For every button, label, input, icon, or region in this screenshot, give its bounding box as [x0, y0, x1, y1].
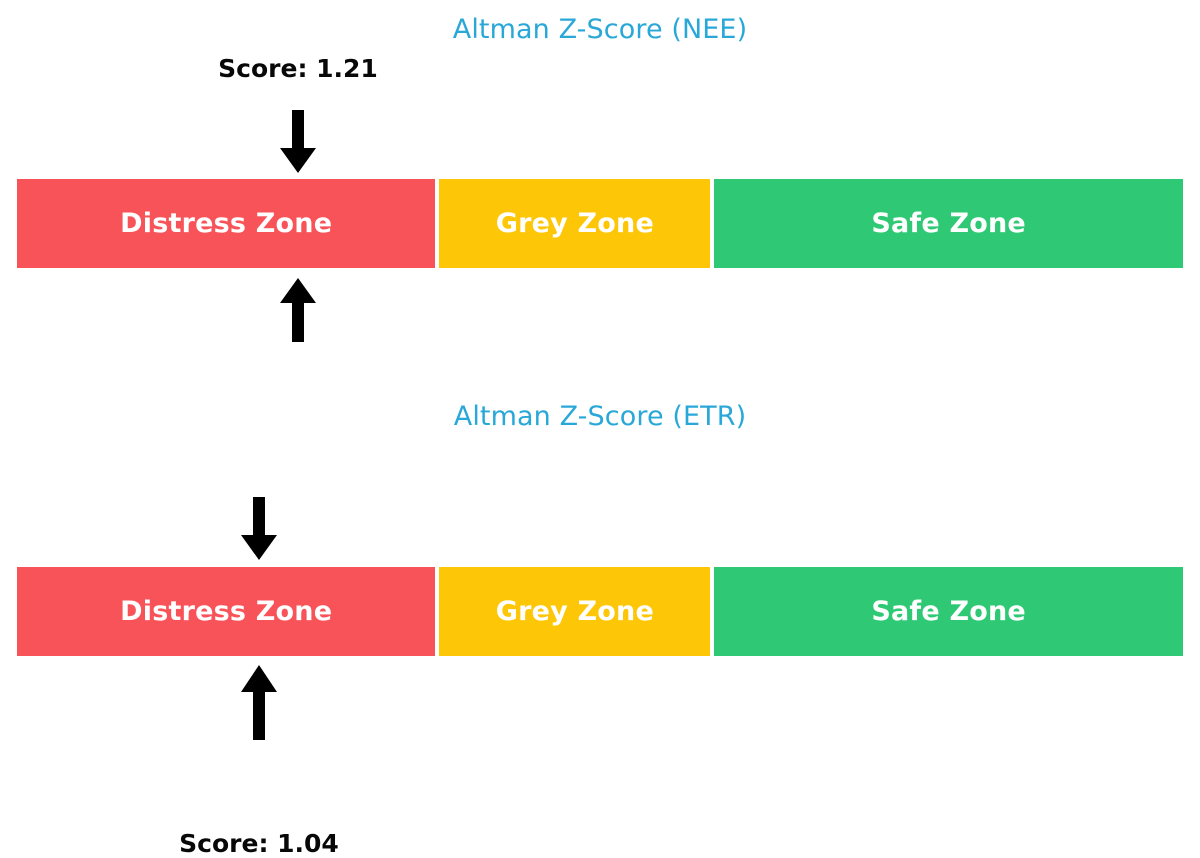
zscore-panel-etr: Altman Z-Score (ETR) Score: 1.04 Distres…: [0, 387, 1200, 774]
score-label-etr: Score: 1.04: [179, 829, 339, 858]
score-marker-down-arrow-nee: [277, 110, 319, 173]
zone-grey-nee[interactable]: Grey Zone: [437, 177, 712, 270]
zone-bar-nee: Distress Zone Grey Zone Safe Zone: [15, 177, 1185, 270]
zone-distress-nee[interactable]: Distress Zone: [15, 177, 437, 270]
zone-label-distress-etr: Distress Zone: [120, 596, 332, 627]
score-marker-up-arrow-etr: [238, 665, 280, 740]
zone-label-distress-nee: Distress Zone: [120, 208, 332, 239]
score-marker-down-arrow-etr: [238, 497, 280, 560]
zone-label-grey-nee: Grey Zone: [496, 208, 654, 239]
zone-label-grey-etr: Grey Zone: [496, 596, 654, 627]
zone-label-safe-etr: Safe Zone: [871, 596, 1026, 627]
zone-grey-etr[interactable]: Grey Zone: [437, 565, 712, 658]
zone-safe-etr[interactable]: Safe Zone: [712, 565, 1185, 658]
zone-distress-etr[interactable]: Distress Zone: [15, 565, 437, 658]
zone-label-safe-nee: Safe Zone: [871, 208, 1026, 239]
score-label-nee: Score: 1.21: [218, 54, 378, 83]
zscore-panel-nee: Altman Z-Score (NEE) Score: 1.21 Distres…: [0, 0, 1200, 387]
zone-bar-etr: Distress Zone Grey Zone Safe Zone: [15, 565, 1185, 658]
page-title-etr: Altman Z-Score (ETR): [0, 401, 1200, 432]
score-marker-up-arrow-nee: [277, 278, 319, 342]
page-title-nee: Altman Z-Score (NEE): [0, 14, 1200, 45]
zone-safe-nee[interactable]: Safe Zone: [712, 177, 1185, 270]
